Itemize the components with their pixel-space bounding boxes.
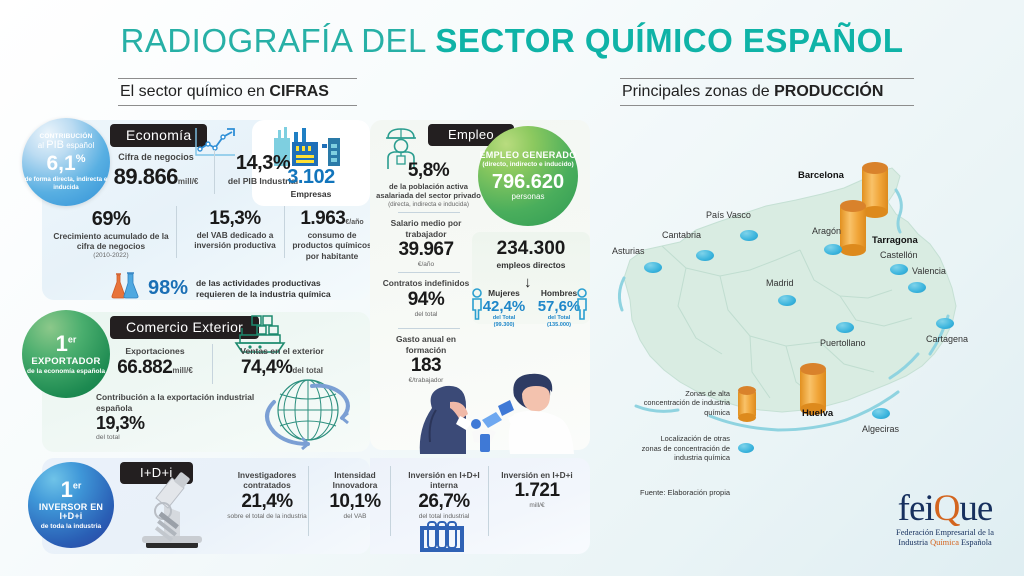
logo-sub-line1: Federación Empresarial de la	[880, 528, 1010, 538]
kpi-consumo-value: 1.963	[300, 208, 345, 229]
kpi-invint-label: Inversión en I+D+I interna	[396, 470, 492, 491]
kpi-inversion-idi: Inversión en I+D+i 1.721 mill/€	[492, 470, 582, 509]
kpi-vab-label: del VAB dedicado a inversión productiva	[180, 230, 290, 251]
divider	[214, 150, 215, 194]
kpi-vab: 15,3% del VAB dedicado a inversión produ…	[180, 208, 290, 251]
kpi-empleos-label: empleos directos	[472, 260, 590, 270]
kpi-investigadores-sub: sobre el total de la industria	[222, 513, 312, 520]
kpi-empresas: 3.102 Empresas	[258, 166, 364, 200]
kpi-cifra-negocios: Cifra de negocios 89.866mill/€	[96, 152, 216, 190]
kpi-poblacion-value: 5,8%	[376, 160, 481, 182]
divider	[488, 466, 489, 536]
kpi-consumo: 1.963€/año consumo de productos químicos…	[288, 208, 376, 261]
map-legend: Zonas de alta concentración de industria…	[640, 386, 780, 477]
divider	[284, 206, 285, 258]
map-label-cartagena: Cartagena	[926, 334, 968, 344]
kpi-vab-value: 15,3%	[180, 208, 290, 230]
divider	[398, 272, 460, 273]
kpi-contratos-unit: del total	[376, 311, 476, 318]
kpi-actividades-label: de las actividades productivas requieren…	[196, 278, 350, 299]
kpi-cifra-label: Cifra de negocios	[96, 152, 216, 163]
kpi-intensidad: Intensidad Innovadora 10,1% del VAB	[316, 470, 394, 520]
map-marker-castellon[interactable]	[890, 264, 908, 275]
divider	[398, 212, 460, 213]
kpi-consumo-unit: €/año	[345, 219, 363, 226]
kpi-mujeres: Mujeres 42,4% del Total (99.300)	[478, 288, 530, 328]
map-label-cantabria: Cantabria	[662, 230, 701, 240]
map-marker-cartagena[interactable]	[936, 318, 954, 329]
logo-subtitle: Federación Empresarial de la Industria Q…	[880, 528, 1010, 548]
microscope-icon	[128, 466, 214, 557]
title-bold: SECTOR QUÍMICO ESPAÑOL	[435, 22, 903, 59]
map-label-puertollano: Puertollano	[820, 338, 866, 348]
kpi-invint-sub: del total industrial	[396, 513, 492, 520]
kpi-ventas-label: Ventas en el exterior	[218, 346, 346, 357]
kpi-invidi-sub: mill/€	[492, 502, 582, 509]
kpi-contribucion-exportacion: Contribución a la exportación industrial…	[96, 392, 256, 441]
pib-badge-value: 6,1%	[47, 152, 86, 175]
kpi-exportaciones-label: Exportaciones	[96, 346, 214, 357]
map-marker-puertollano[interactable]	[836, 322, 854, 333]
kpi-exportaciones-value: 66.882	[117, 357, 172, 378]
inversor-line3: de toda la industria	[41, 523, 101, 531]
legend-item-high: Zonas de alta concentración de industria…	[640, 386, 780, 420]
globe-icon	[258, 372, 358, 457]
inversor-badge: 1er INVERSOR EN I+D+i de toda la industr…	[28, 462, 114, 548]
kpi-contratos-label: Contratos indefinidos	[376, 278, 476, 289]
kpi-gasto-label: Gasto anual en formación	[376, 334, 476, 355]
kpi-cifra-value: 89.866	[114, 164, 178, 189]
male-figure-icon	[575, 288, 589, 325]
kpi-exportaciones-unit: mill/€	[172, 366, 192, 375]
kpi-empresas-value: 3.102	[258, 166, 364, 189]
lab-scientists-illustration	[410, 362, 590, 459]
logo-sub-line2: Industria Química Española	[880, 538, 1010, 548]
kpi-cifra-unit: mill/€	[178, 177, 198, 186]
map-marker-asturias[interactable]	[644, 262, 662, 273]
kpi-empleos-directos: 234.300 empleos directos	[472, 238, 590, 270]
kpi-crecimiento: 69% Crecimiento acumulado de la cifra de…	[48, 208, 174, 259]
kpi-salario-value: 39.967	[376, 239, 476, 261]
map-label-barcelona: Barcelona	[798, 170, 844, 181]
kpi-contratos: Contratos indefinidos 94% del total	[376, 278, 476, 318]
divider	[390, 466, 391, 536]
kpi-salario: Salario medio por trabajador 39.967 €/añ…	[376, 218, 476, 268]
legend-dot-icon	[738, 443, 754, 453]
page-title: RADIOGRAFÍA DEL SECTOR QUÍMICO ESPAÑOL	[0, 24, 1024, 57]
map-marker-valencia[interactable]	[908, 282, 926, 293]
produccion-bold: PRODUCCIÓN	[774, 83, 883, 100]
map-marker-aragon[interactable]	[824, 244, 842, 255]
legend-item-other: Localización de otras zonas de concentra…	[640, 434, 780, 463]
divider	[398, 328, 460, 329]
kpi-contratos-value: 94%	[376, 289, 476, 311]
cifras-light: El sector químico en	[120, 83, 269, 100]
mujeres-sub2: (99.300)	[478, 322, 530, 329]
kpi-contrib-label: Contribución a la exportación industrial…	[96, 392, 256, 413]
map-marker-algeciras[interactable]	[872, 408, 890, 419]
flasks-icon	[110, 272, 140, 305]
kpi-contrib-sub: del total	[96, 434, 256, 441]
kpi-invidi-label: Inversión en I+D+i	[492, 470, 582, 480]
kpi-empleos-value: 234.300	[472, 238, 590, 260]
empleo-generado-badge: EMPLEO GENERADO (directo, indirecto e in…	[478, 126, 578, 226]
exportador-rank: 1er	[56, 332, 77, 356]
kpi-salario-label: Salario medio por trabajador	[376, 218, 476, 239]
feique-logo: feiQue Federación Empresarial de la Indu…	[880, 492, 1010, 548]
mujeres-sub1: del Total	[478, 315, 530, 322]
column-title-produccion: Principales zonas de PRODUCCIÓN	[620, 78, 914, 106]
kpi-crecimiento-value: 69%	[48, 208, 174, 231]
divider	[212, 344, 213, 384]
exportador-line3: de la economía española	[27, 368, 105, 376]
empleo-badge-value: 796.620	[492, 171, 564, 193]
inversor-line2: INVERSOR EN I+D+i	[28, 503, 114, 523]
map-marker-madrid[interactable]	[778, 295, 796, 306]
map-marker-pais-vasco[interactable]	[740, 230, 758, 241]
map-label-castellon: Castellón	[880, 250, 918, 260]
kpi-investigadores-value: 21,4%	[222, 491, 312, 513]
kpi-poblacion-sub: (directa, indirecta e inducida)	[376, 201, 481, 208]
kpi-inversion-interna: Inversión en I+D+I interna 26,7% del tot…	[396, 470, 492, 520]
kpi-poblacion-activa: 5,8% de la población activa asalariada d…	[376, 160, 481, 208]
mujeres-value: 42,4%	[478, 298, 530, 315]
kpi-intensidad-sub: del VAB	[316, 513, 394, 520]
divider	[176, 206, 177, 258]
test-tubes-icon	[414, 520, 470, 559]
legend-cylinder-icon	[738, 386, 756, 420]
legend-text-other: Localización de otras zonas de concentra…	[640, 434, 730, 463]
logo-wordmark: feiQue	[880, 492, 1010, 526]
kpi-consumo-label: consumo de productos químicos por habita…	[288, 230, 376, 261]
map-label-algeciras: Algeciras	[862, 424, 899, 434]
map-label-asturias: Asturias	[612, 246, 645, 256]
map-label-aragon: Aragón	[812, 226, 841, 236]
produccion-light: Principales zonas de	[622, 83, 774, 100]
title-light: RADIOGRAFÍA DEL	[120, 22, 435, 59]
legend-text-high: Zonas de alta concentración de industria…	[640, 389, 730, 418]
empleo-badge-line1: EMPLEO GENERADO	[479, 150, 576, 160]
kpi-invint-value: 26,7%	[396, 491, 492, 513]
kpi-investigadores: Investigadores contratados 21,4% sobre e…	[222, 470, 312, 520]
infographic-canvas: RADIOGRAFÍA DEL SECTOR QUÍMICO ESPAÑOL E…	[0, 0, 1024, 576]
map-label-tarragona: Tarragona	[872, 235, 918, 246]
kpi-exportaciones: Exportaciones 66.882mill/€	[96, 346, 214, 379]
kpi-intensidad-value: 10,1%	[316, 491, 394, 513]
exportador-line2: EXPORTADOR	[31, 357, 100, 367]
source-note: Fuente: Elaboración propia	[640, 488, 730, 497]
map-label-huelva: Huelva	[802, 408, 833, 419]
kpi-crecimiento-label: Crecimiento acumulado de la cifra de neg…	[48, 231, 174, 252]
map-label-madrid: Madrid	[766, 278, 794, 288]
inversor-rank: 1er	[61, 478, 82, 502]
column-title-cifras: El sector químico en CIFRAS	[118, 78, 357, 106]
kpi-empresas-label: Empresas	[258, 189, 364, 200]
divider	[308, 466, 309, 536]
kpi-salario-unit: €/año	[376, 261, 476, 268]
kpi-poblacion-label: de la población activa asalariada del se…	[376, 182, 481, 201]
kpi-invidi-value: 1.721	[492, 480, 582, 502]
empleo-badge-line2: (directo, indirecto e inducido)	[482, 161, 573, 169]
mujeres-label: Mujeres	[478, 288, 530, 298]
empleo-badge-line4: personas	[512, 193, 545, 202]
map-marker-cantabria[interactable]	[696, 250, 714, 261]
map-label-pais-vasco: País Vasco	[706, 210, 751, 220]
kpi-intensidad-label: Intensidad Innovadora	[316, 470, 394, 491]
kpi-actividades-value: 98%	[148, 277, 188, 300]
cifras-bold: CIFRAS	[269, 83, 329, 100]
pib-badge-line2: al PIB español	[38, 139, 94, 151]
kpi-investigadores-label: Investigadores contratados	[222, 470, 312, 491]
map-label-valencia: Valencia	[912, 266, 946, 276]
kpi-contrib-value: 19,3%	[96, 413, 256, 434]
kpi-actividades-row: 98% de las actividades productivas requi…	[110, 272, 350, 305]
kpi-crecimiento-sub: (2010-2022)	[48, 252, 174, 259]
